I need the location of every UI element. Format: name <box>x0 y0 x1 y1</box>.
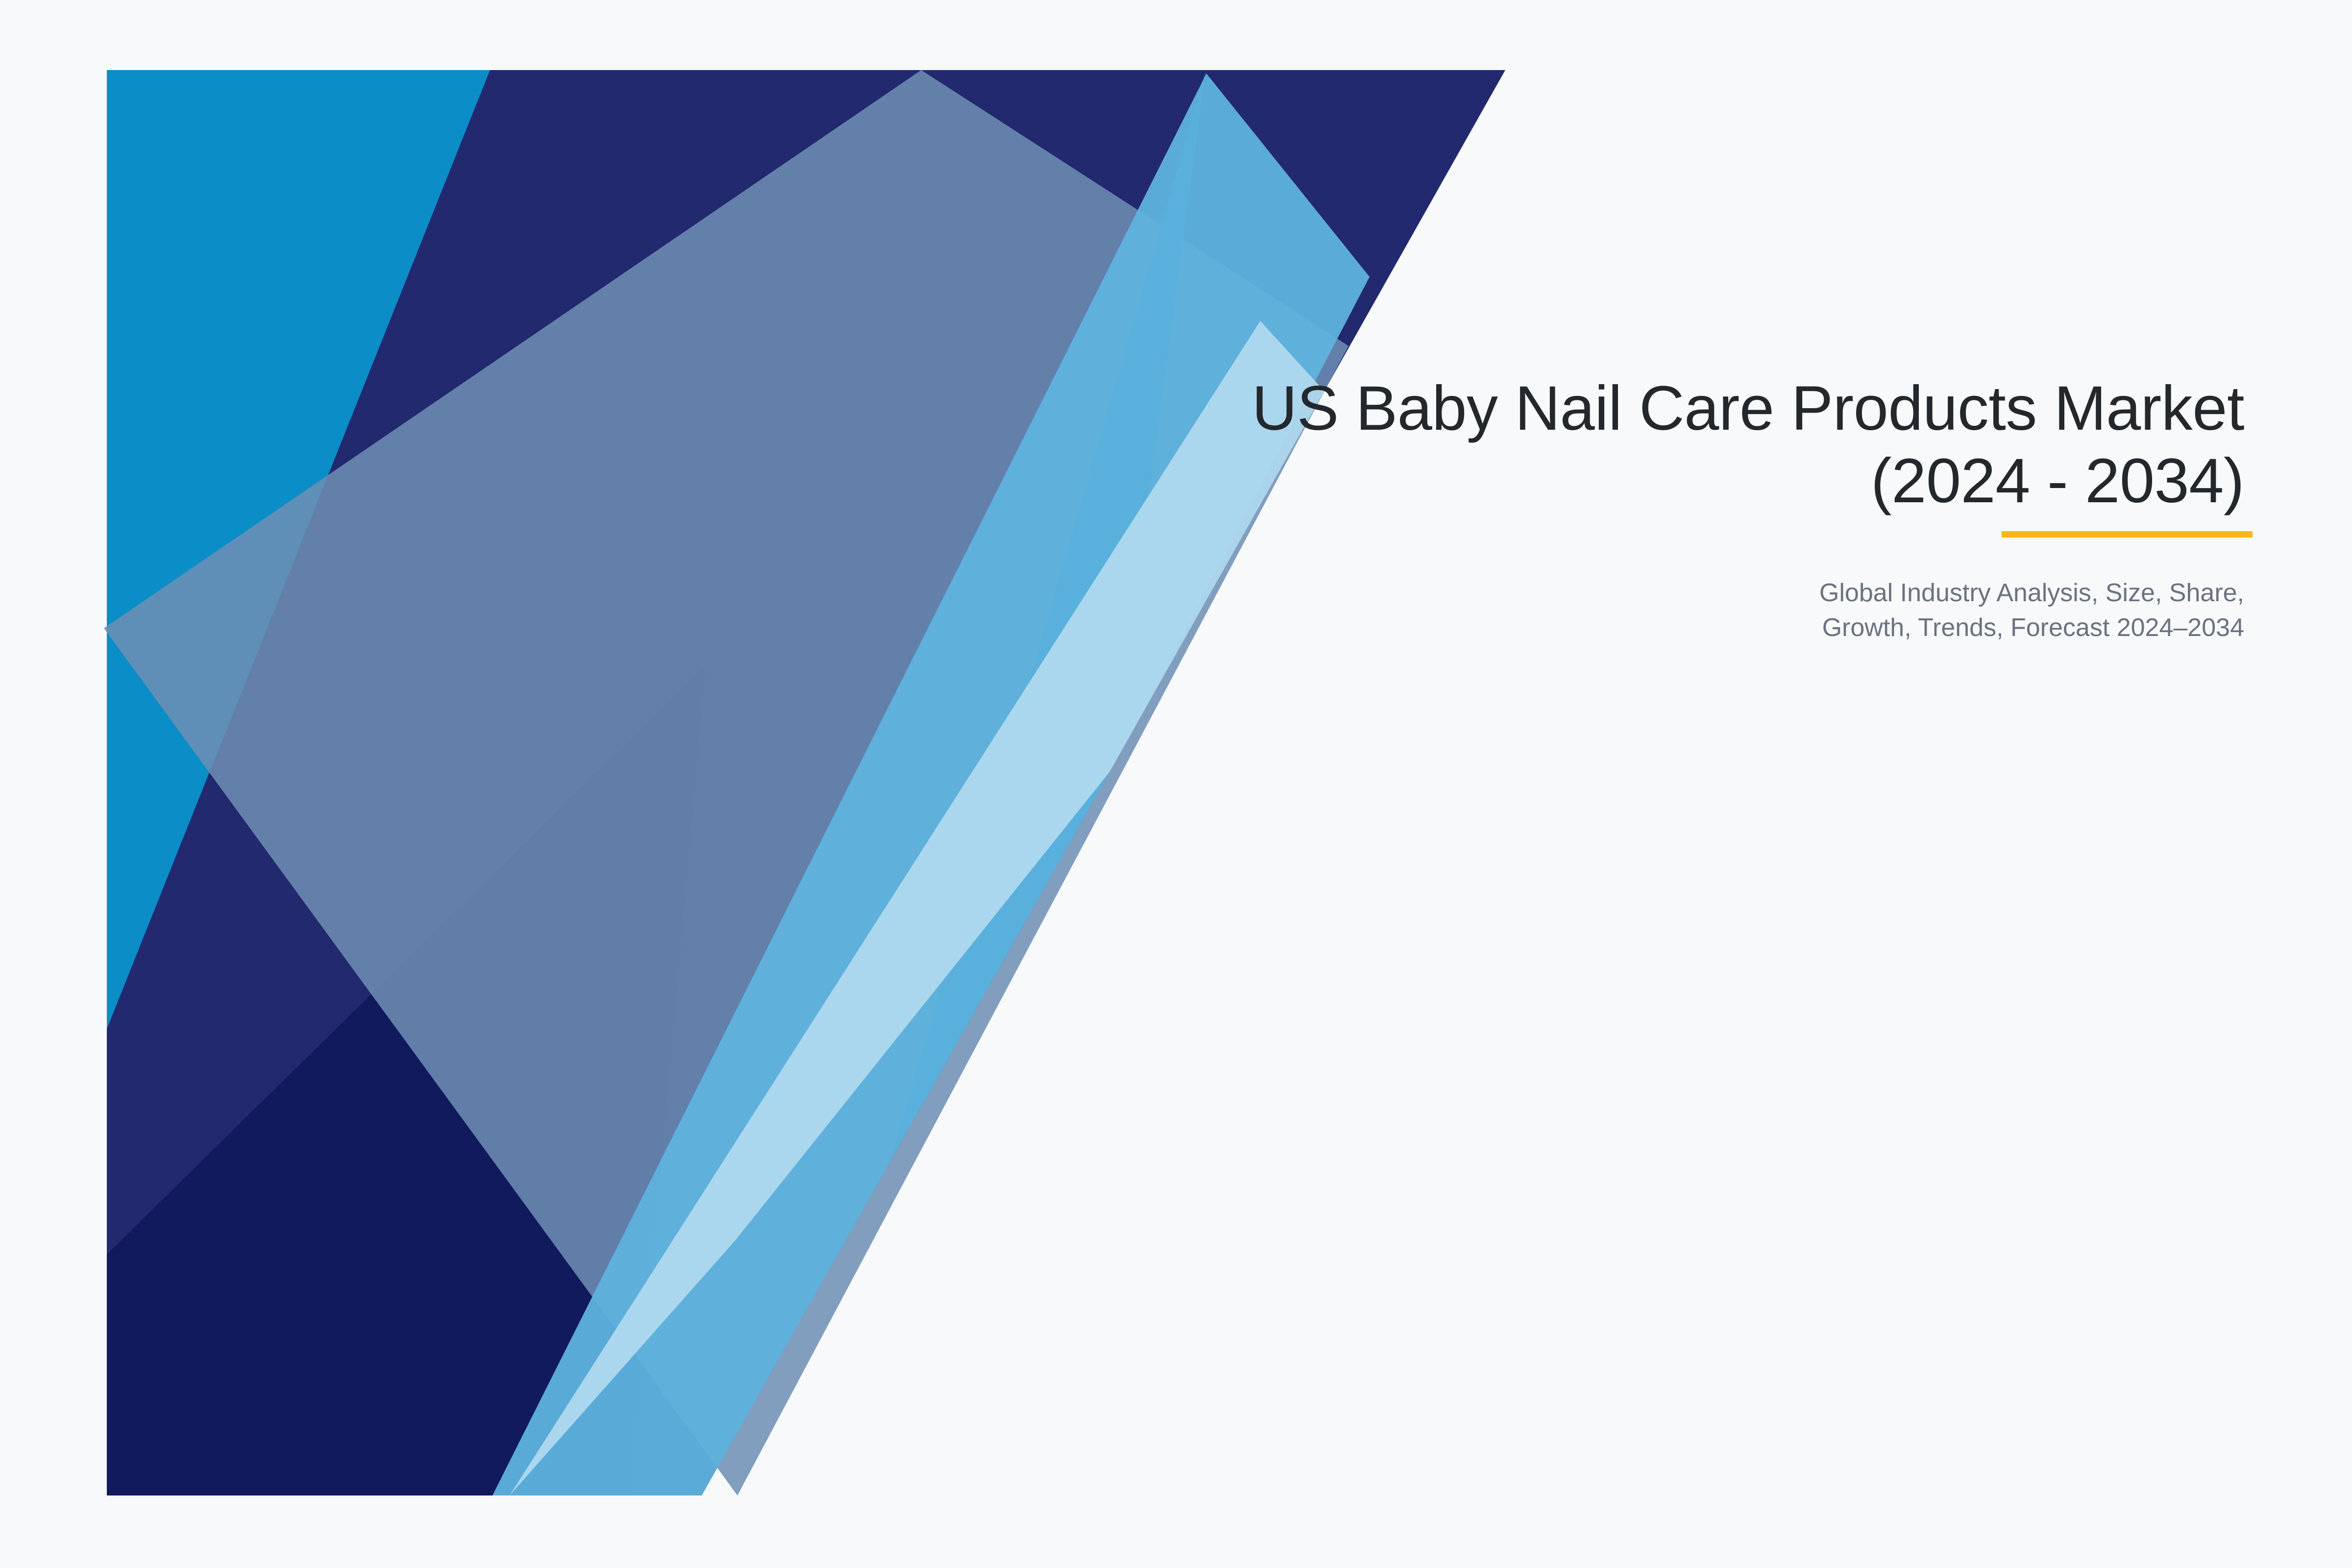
title-accent-underline <box>2002 531 2253 538</box>
page-title: US Baby Nail Care Products Market (2024 … <box>833 372 2244 518</box>
report-cover: US Baby Nail Care Products Market (2024 … <box>0 0 2352 1568</box>
cover-text-block: US Baby Nail Care Products Market (2024 … <box>833 372 2244 645</box>
cover-artwork <box>0 0 2352 1568</box>
